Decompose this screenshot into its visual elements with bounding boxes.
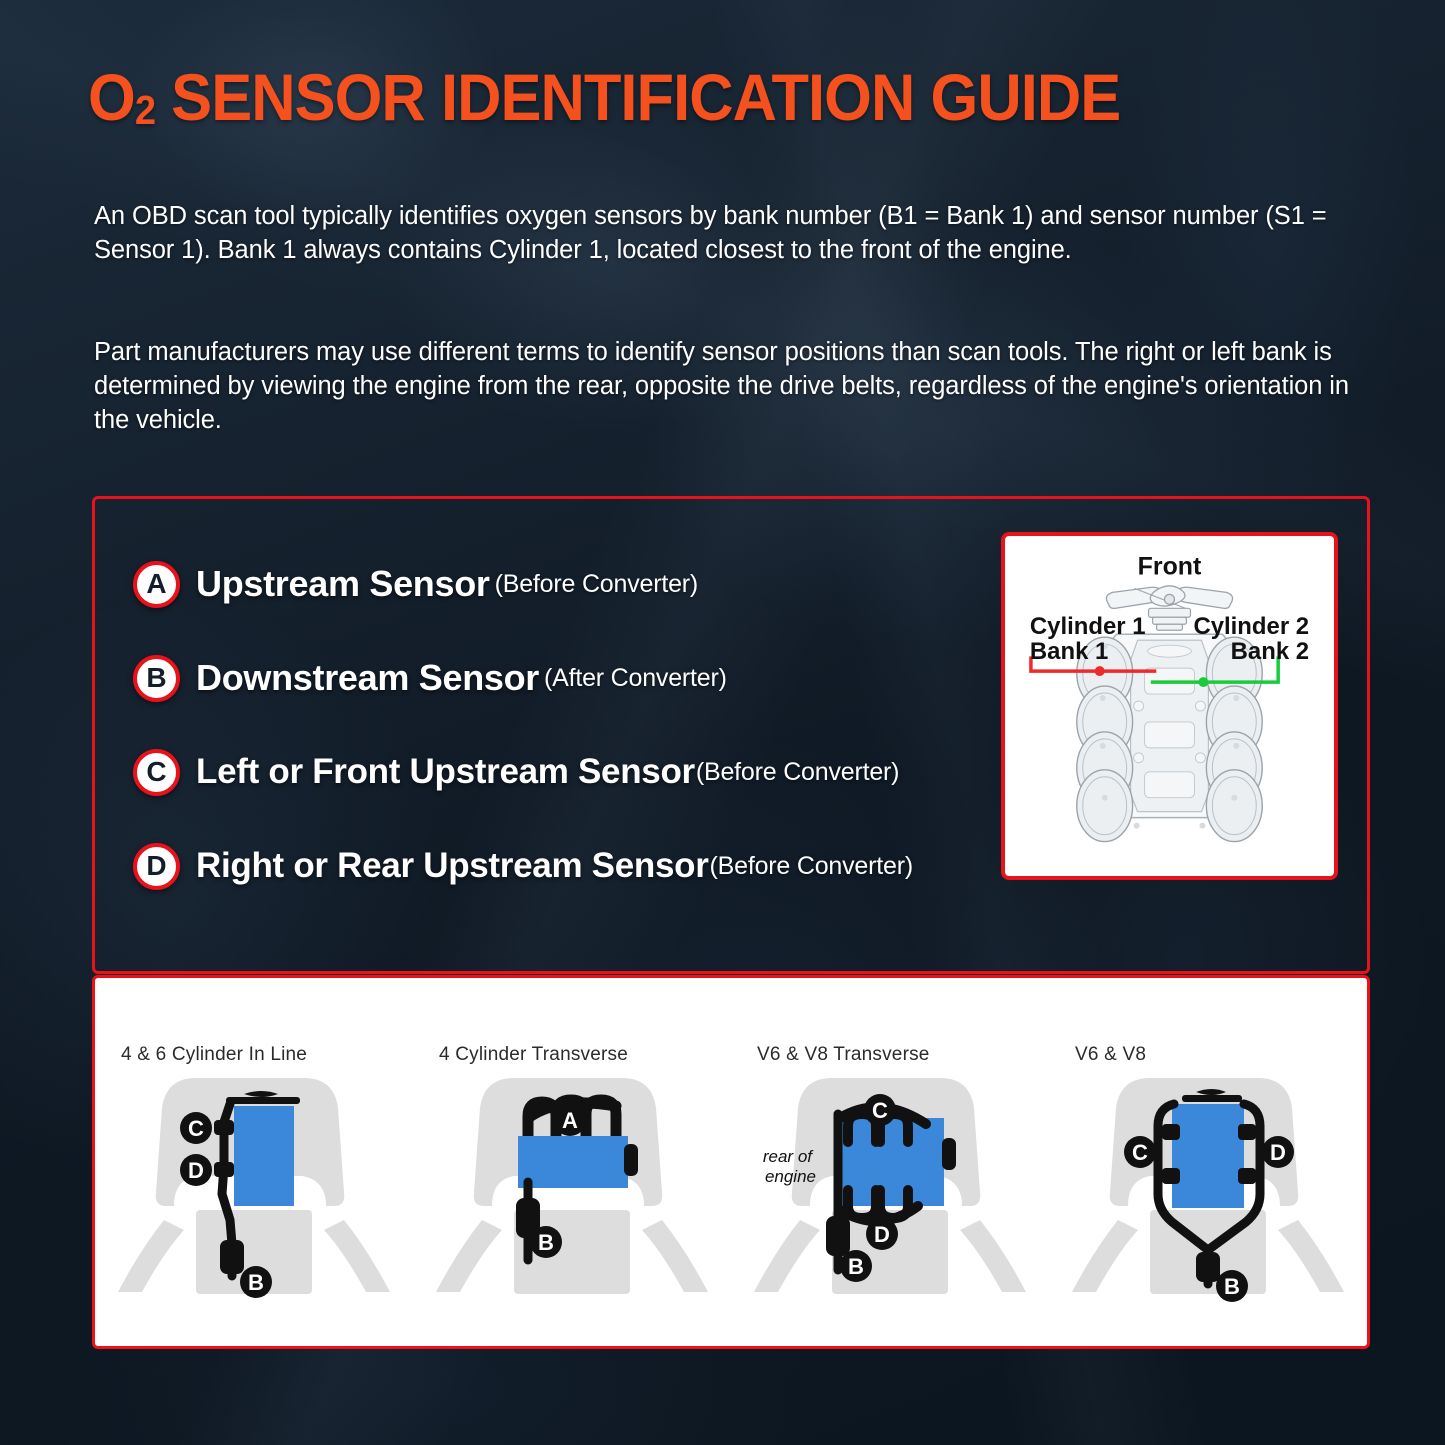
engine-bank1-label: Bank 1 [1030, 638, 1108, 665]
page-title: O2 SENSOR IDENTIFICATION GUIDE [88, 64, 1120, 130]
diagram-title-v6-v8-transverse: V6 & V8 Transverse [757, 1044, 930, 1066]
legend-label-b: Downstream Sensor [196, 657, 539, 699]
badge-a: A [133, 561, 180, 608]
diagram-title-v6-v8: V6 & V8 [1075, 1044, 1146, 1066]
legend-item-b: B Downstream Sensor (After Converter) [133, 631, 1013, 725]
legend-note-c: (Before Converter) [696, 758, 899, 787]
svg-text:D: D [874, 1222, 890, 1247]
legend-note-d: (Before Converter) [710, 852, 913, 881]
diagram-art-inline-4-6: C D B [95, 1070, 413, 1320]
infographic-page: O2 SENSOR IDENTIFICATION GUIDE An OBD sc… [0, 0, 1445, 1445]
legend-note-b: (After Converter) [544, 664, 727, 693]
legend-item-a: A Upstream Sensor (Before Converter) [133, 537, 1013, 631]
svg-text:A: A [562, 1108, 578, 1133]
diagram-inline-4-6: 4 & 6 Cylinder In Line [95, 978, 413, 1346]
badge-d: D [133, 843, 180, 890]
badge-c: C [133, 749, 180, 796]
legend-item-d: D Right or Rear Upstream Sensor (Before … [133, 819, 1013, 913]
svg-text:D: D [1270, 1140, 1286, 1165]
engine-cylinder1-label: Cylinder 1 [1030, 613, 1146, 640]
bank2-pointer-dot [1198, 677, 1208, 687]
rear-of-engine-annotation-line2: engine [765, 1167, 816, 1186]
svg-text:C: C [188, 1116, 204, 1141]
badge-b: B [133, 655, 180, 702]
engine-block-blue [234, 1106, 294, 1206]
diagram-v6-v8-transverse: V6 & V8 Transverse [731, 978, 1049, 1346]
diagram-v6-v8: V6 & V8 [1049, 978, 1367, 1346]
diagram-art-transverse-4: A B [413, 1070, 731, 1320]
diagram-art-v6-v8-transverse: C D B rear of engine [731, 1070, 1049, 1320]
intro-paragraph-1: An OBD scan tool typically identifies ox… [94, 200, 1364, 268]
legend-label-c: Left or Front Upstream Sensor [196, 752, 695, 792]
engine-bank2-label: Bank 2 [1231, 638, 1309, 665]
intro-paragraph-2: Part manufacturers may use different ter… [94, 336, 1364, 438]
rear-of-engine-annotation-line1: rear of [763, 1147, 814, 1166]
bank1-pointer-dot [1095, 666, 1105, 676]
svg-text:B: B [1224, 1274, 1240, 1299]
legend-note-a: (Before Converter) [495, 570, 698, 599]
legend-list: A Upstream Sensor (Before Converter) B D… [133, 537, 1013, 913]
svg-text:C: C [1132, 1140, 1148, 1165]
legend-label-a: Upstream Sensor [196, 563, 490, 605]
diagram-transverse-4: 4 Cylinder Transverse [413, 978, 731, 1346]
legend-label-d: Right or Rear Upstream Sensor [196, 846, 709, 886]
svg-text:B: B [248, 1270, 264, 1295]
title-o: O [88, 60, 135, 134]
engine-block-blue [1172, 1104, 1244, 1208]
diagram-title-transverse-4: 4 Cylinder Transverse [439, 1044, 628, 1066]
vehicle-layout-diagrams-panel: 4 & 6 Cylinder In Line [92, 975, 1370, 1349]
svg-text:B: B [538, 1230, 554, 1255]
engine-block-diagram: Front Cylinder 1 Bank 1 Cylinder 2 Bank … [1001, 532, 1338, 880]
svg-text:B: B [848, 1254, 864, 1279]
title-subscript-2: 2 [135, 87, 155, 133]
svg-text:D: D [188, 1158, 204, 1183]
engine-front-label: Front [1138, 552, 1202, 580]
engine-block-blue [838, 1118, 944, 1206]
svg-text:C: C [872, 1098, 888, 1123]
engine-block-blue [518, 1136, 628, 1188]
title-rest: SENSOR IDENTIFICATION GUIDE [155, 60, 1120, 134]
legend-panel: A Upstream Sensor (Before Converter) B D… [92, 496, 1370, 974]
diagram-title-inline-4-6: 4 & 6 Cylinder In Line [121, 1044, 307, 1066]
diagram-art-v6-v8: C D B [1049, 1070, 1367, 1320]
legend-item-c: C Left or Front Upstream Sensor (Before … [133, 725, 1013, 819]
engine-cylinder2-label: Cylinder 2 [1193, 613, 1309, 640]
